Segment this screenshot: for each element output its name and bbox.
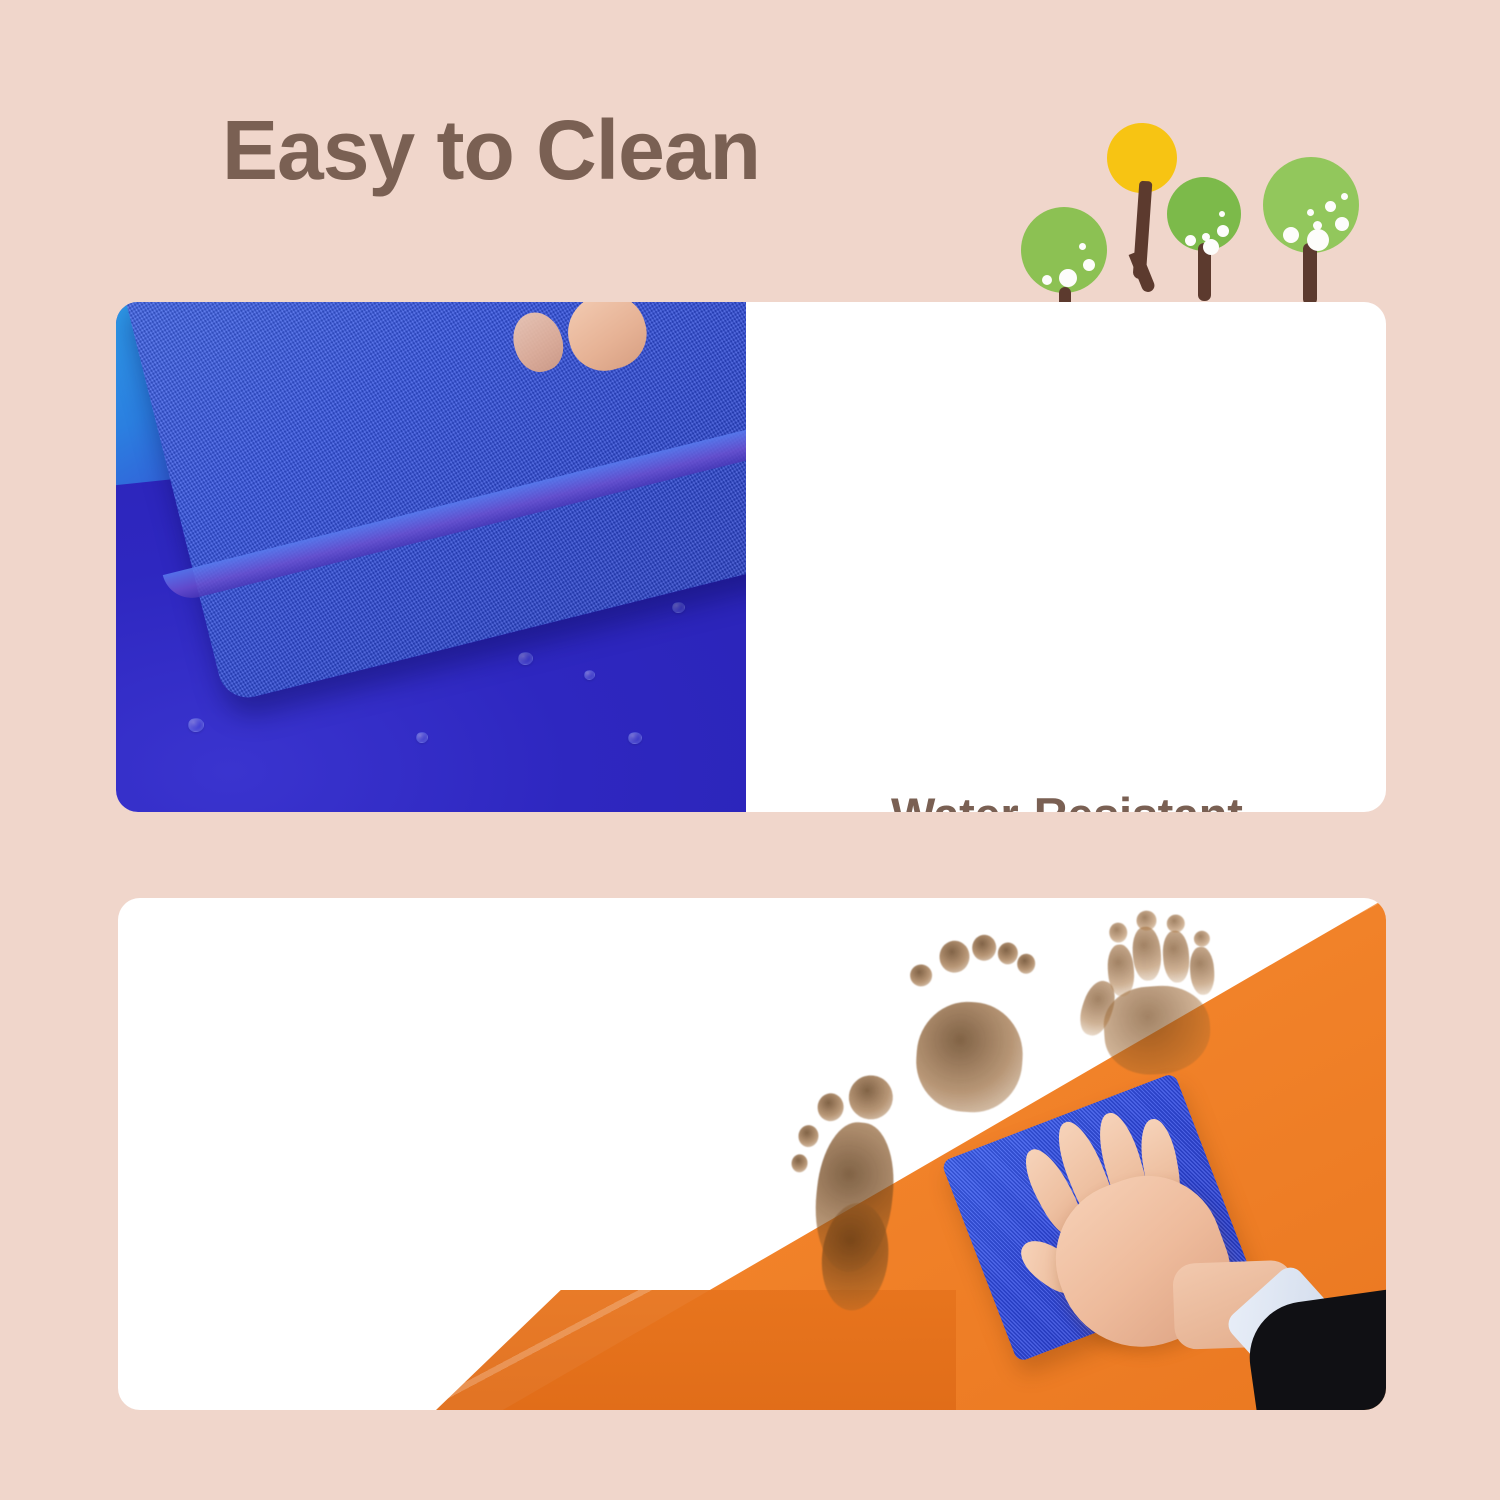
feature-image-stain-resistant bbox=[426, 898, 1386, 1410]
feature-card-stain-resistant: Stain-Resistant Smooth surface make stai… bbox=[118, 898, 1386, 1410]
orange-mat-front-edge bbox=[436, 1290, 956, 1410]
feature-image-water-resistant bbox=[116, 302, 746, 812]
microfiber-towel bbox=[124, 302, 746, 704]
footprint-stain bbox=[893, 931, 1047, 1140]
handprint-stain bbox=[1052, 907, 1263, 1091]
decorative-trees-group bbox=[995, 115, 1385, 310]
infographic-canvas: Easy to Clean bbox=[0, 0, 1500, 1500]
page-title: Easy to Clean bbox=[222, 108, 760, 192]
feature-card-water-resistant: Water-Resistant Quickly wipe clean with … bbox=[116, 302, 1386, 812]
feature-title: Water-Resistant bbox=[891, 790, 1386, 812]
feature-text-water-resistant: Water-Resistant Quickly wipe clean with … bbox=[891, 790, 1386, 812]
